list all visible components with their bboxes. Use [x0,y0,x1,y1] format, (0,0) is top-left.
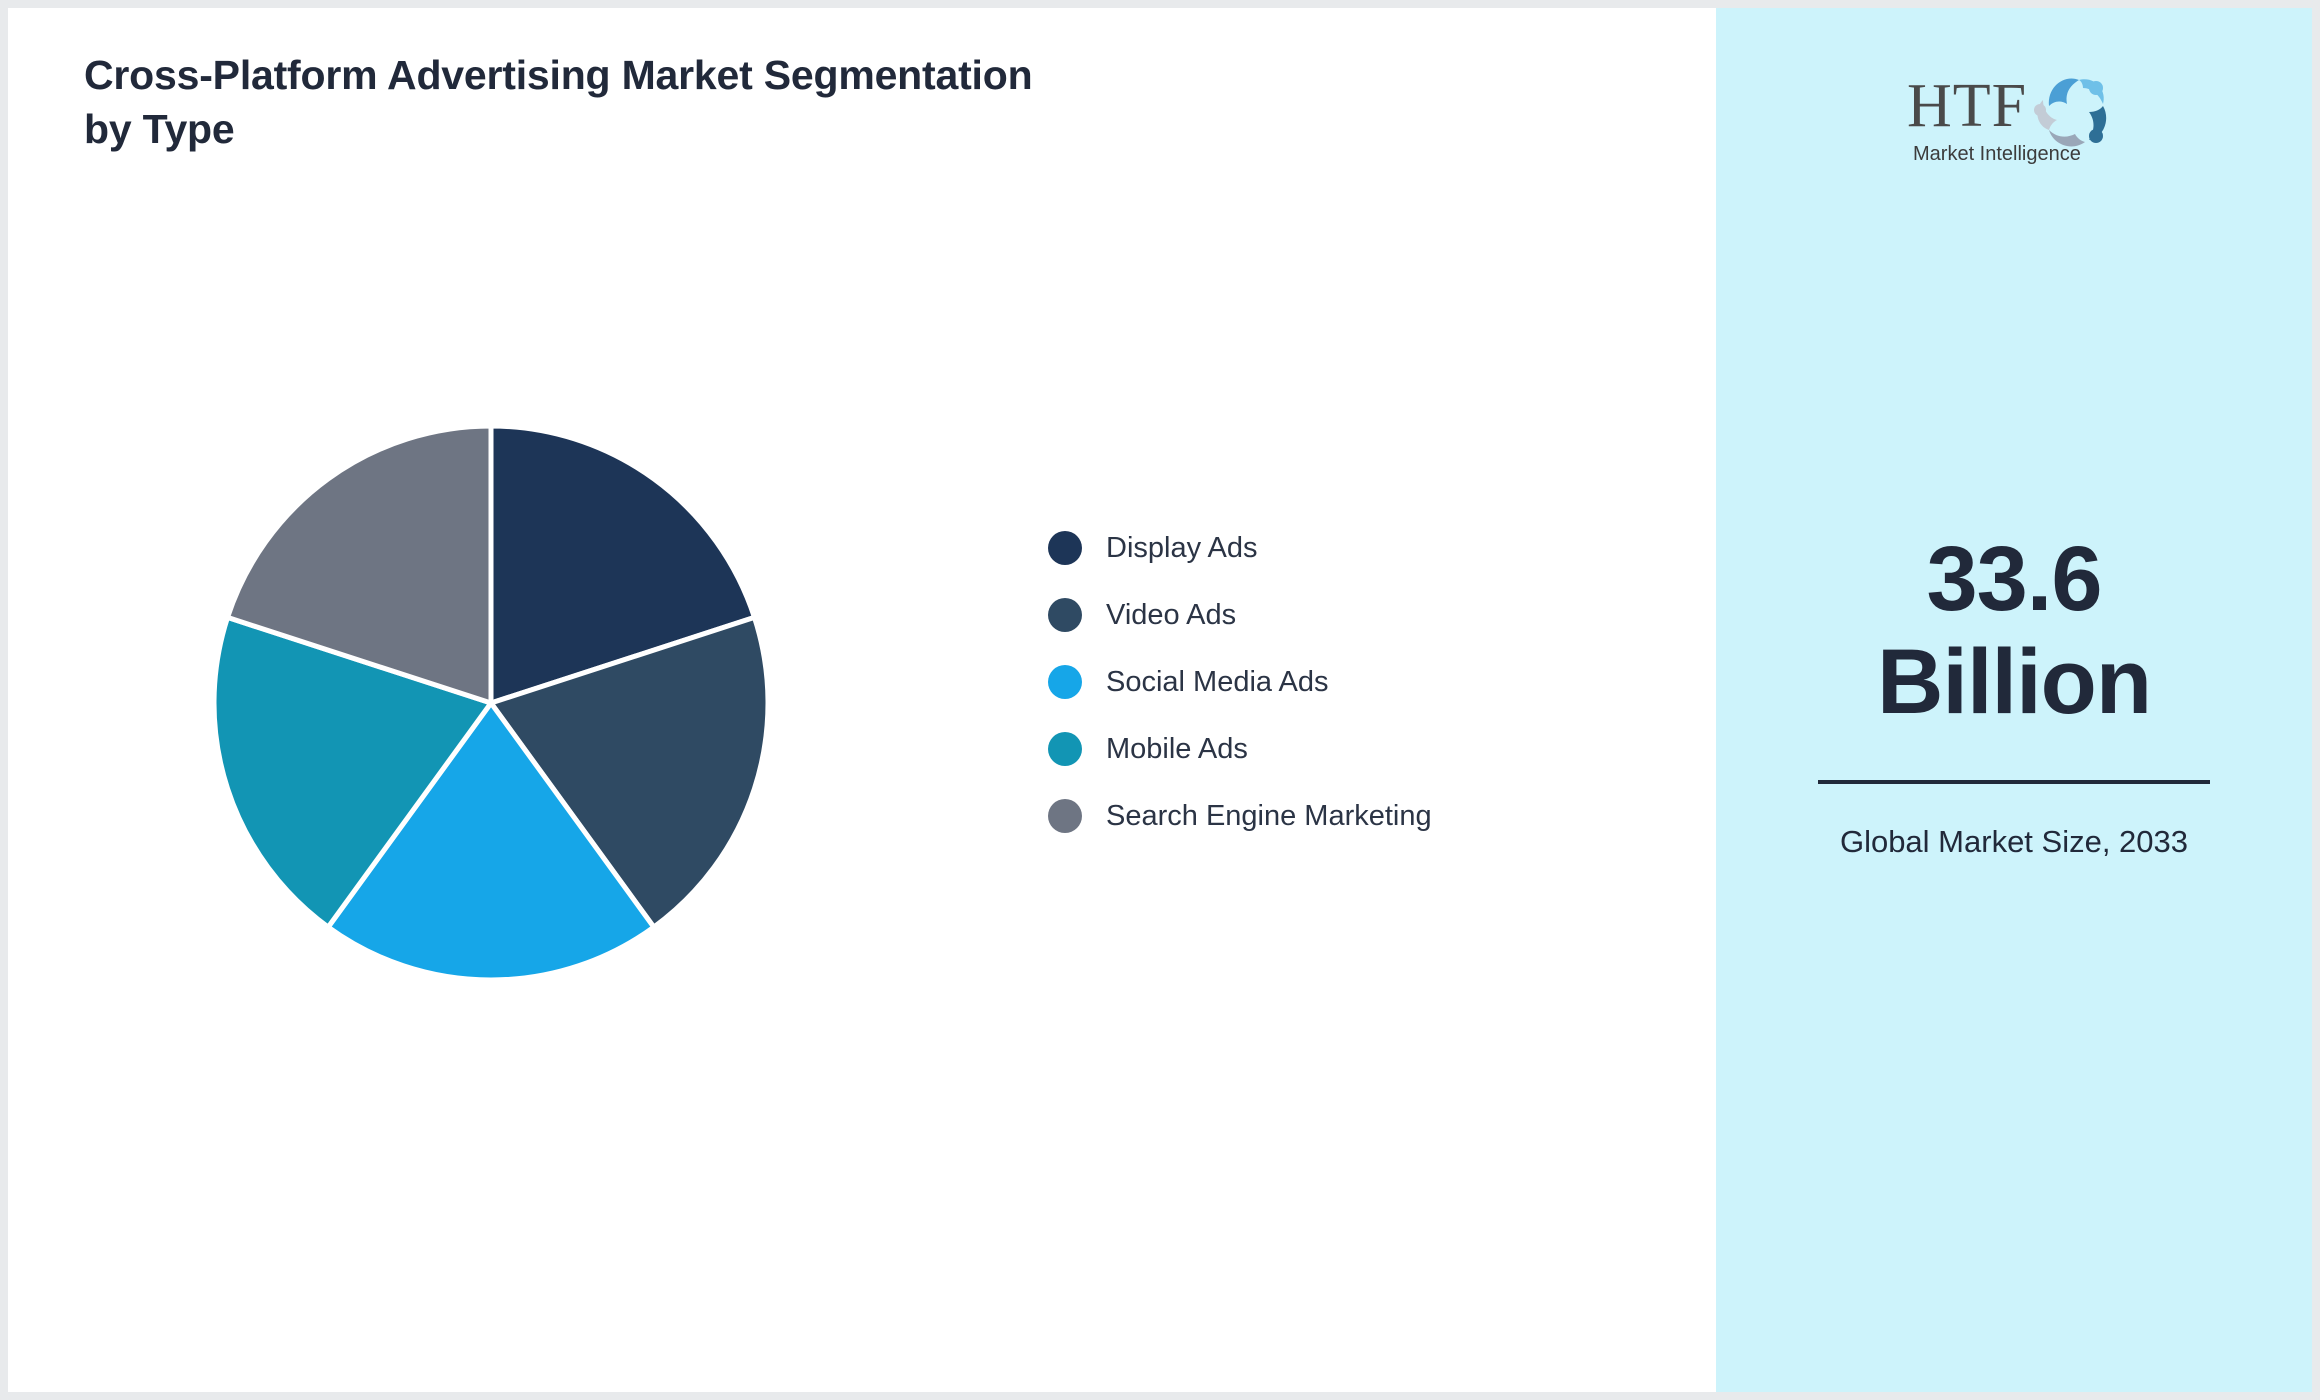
stat-unit: Billion [1774,631,2254,734]
legend-label: Mobile Ads [1106,733,1248,766]
legend-swatch-icon [1048,799,1082,833]
chart-legend: Display Ads Video Ads Social Media Ads M… [1048,528,1432,836]
legend-swatch-icon [1048,598,1082,632]
legend-label: Display Ads [1106,532,1258,565]
stat-pane: HTF Market Intelligence [1716,8,2312,1392]
legend-label: Video Ads [1106,599,1236,632]
legend-item-search-engine-marketing[interactable]: Search Engine Marketing [1048,796,1432,836]
page-title: Cross-Platform Advertising Market Segmen… [84,48,1084,156]
legend-swatch-icon [1048,531,1082,565]
legend-swatch-icon [1048,665,1082,699]
legend-item-mobile-ads[interactable]: Mobile Ads [1048,729,1432,769]
legend-label: Search Engine Marketing [1106,800,1432,833]
pie-chart-svg [206,418,776,988]
legend-item-video-ads[interactable]: Video Ads [1048,595,1432,635]
legend-item-display-ads[interactable]: Display Ads [1048,528,1432,568]
infographic-card: Cross-Platform Advertising Market Segmen… [8,8,2312,1392]
stat-divider [1818,780,2210,784]
legend-item-social-media-ads[interactable]: Social Media Ads [1048,662,1432,702]
people-circle-icon [2034,78,2106,146]
legend-swatch-icon [1048,732,1082,766]
legend-label: Social Media Ads [1106,666,1328,699]
screenshot-canvas: Cross-Platform Advertising Market Segmen… [0,0,2320,1400]
chart-pane: Cross-Platform Advertising Market Segmen… [8,8,1716,1392]
stat-block: 33.6 Billion Global Market Size, 2033 [1774,528,2254,864]
pie-chart [206,418,776,988]
logo-svg: HTF Market Intelligence [1899,60,2129,170]
stat-caption: Global Market Size, 2033 [1774,820,2254,864]
stat-value: 33.6 [1774,528,2254,631]
htf-market-intelligence-logo: HTF Market Intelligence [1899,60,2129,170]
svg-text:HTF: HTF [1907,72,2027,140]
svg-text:Market Intelligence: Market Intelligence [1913,143,2081,165]
